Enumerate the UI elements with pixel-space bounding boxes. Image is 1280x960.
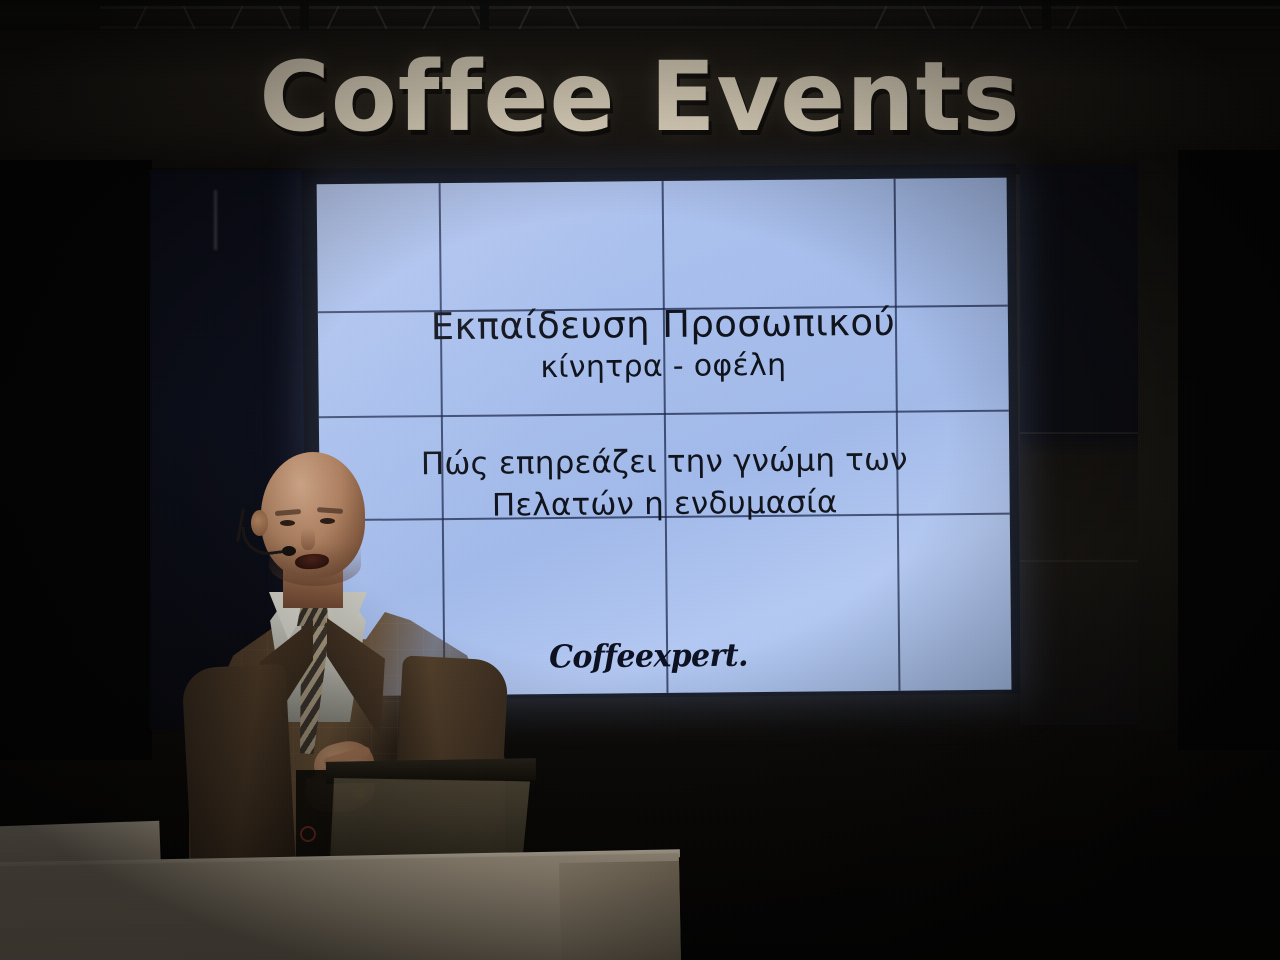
panel-seam-vertical [662,181,669,693]
stage-wall-corner [559,861,681,960]
coffeexpert-logo: Coffeexpert. [549,637,748,676]
microphone-capsule-icon [282,546,296,556]
venue-sign: Coffee Events [190,38,1090,156]
eye-right [320,518,335,524]
left-dark-wall [0,160,152,760]
slide-heading: Εκπαίδευση Προσωπικού [318,300,1008,350]
podium-indicator-light [300,826,316,842]
slide-subheading: κίνητρα - οφέλη [318,346,1008,388]
panel-seam-vertical [894,179,901,691]
nose [301,528,315,550]
panel-seam [1020,432,1138,434]
panel-seam [1020,560,1138,562]
venue-sign-text: Coffee Events [259,49,1020,145]
truss-brace-icon [1114,6,1173,29]
light-streak [214,190,217,250]
unlit-display-panel [1020,165,1138,725]
right-black-wall [1178,150,1280,750]
jacket-arm-left [181,663,296,886]
photo-scene: Coffee Events Εκπαίδευση Προσωπικού κίνη… [0,0,1280,960]
right-panel-column [1138,160,1178,730]
podium-front-panel [330,778,530,864]
podium-side [296,770,334,866]
truss-brace-icon [566,6,625,29]
